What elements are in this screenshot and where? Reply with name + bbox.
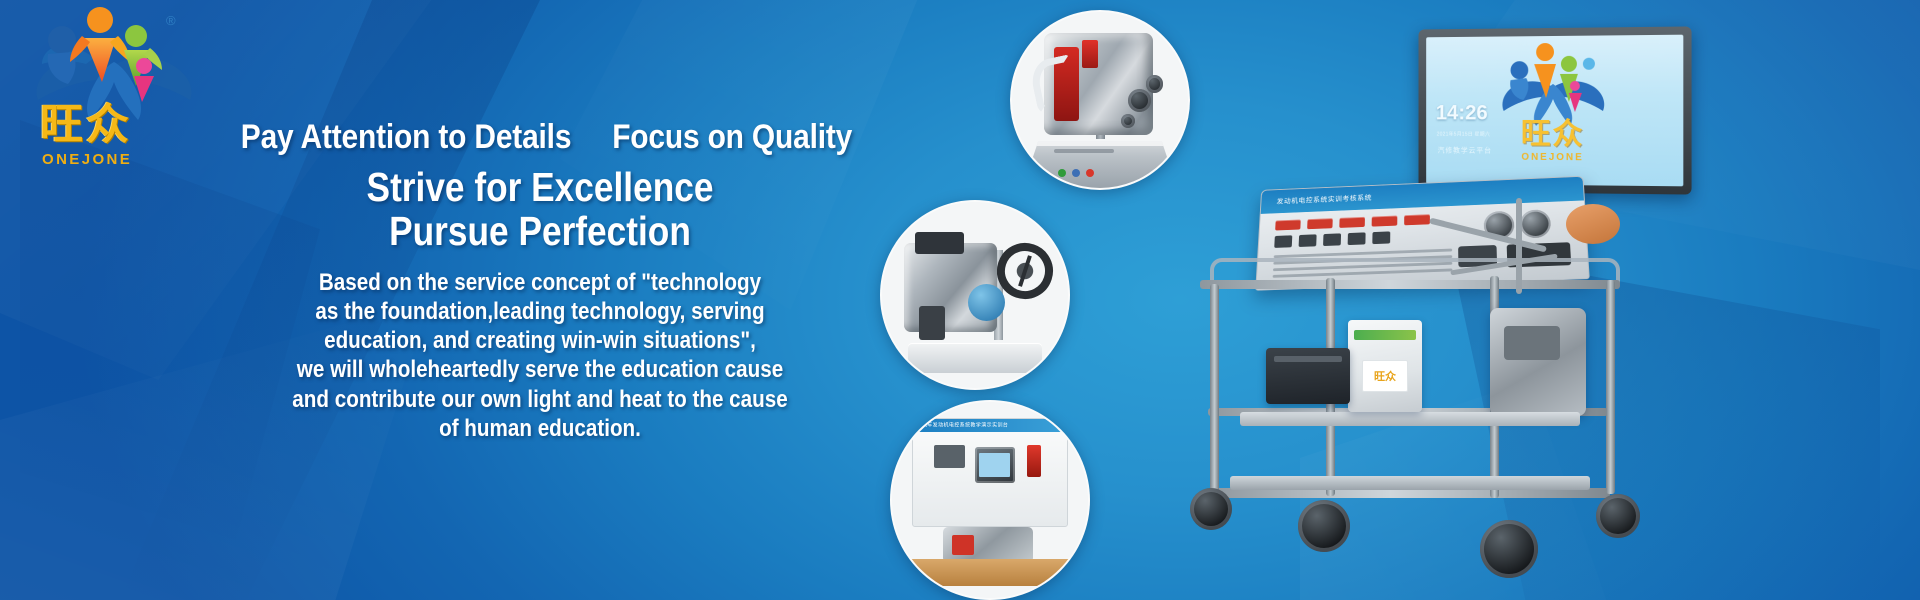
air-intake-chamber [968, 284, 1005, 321]
diagnostic-scanner [975, 447, 1015, 484]
engine-accessory [919, 306, 945, 339]
tagline: Pay Attention to Details Focus on Qualit… [241, 118, 839, 157]
console-switch[interactable] [1274, 235, 1292, 248]
board-header-text: 汽车发动机电控系统教学演示实训台 [922, 422, 1008, 429]
screen-onejone-logo-icon [1493, 41, 1612, 126]
cart-mid-shelf [1240, 412, 1580, 426]
product-photo-engine-steering [880, 200, 1070, 390]
hose [1516, 198, 1522, 294]
console-button[interactable] [1307, 218, 1333, 229]
lcd-touch-display[interactable]: 旺众 ONEJONE 14:26 2021年5月15日 星期六 汽修教学云平台 [1419, 26, 1692, 194]
logo-chinese-name: 旺众 [40, 104, 132, 147]
screen-subtitle: 汽修教学云平台 [1438, 146, 1492, 156]
body-paragraph: Based on the service concept of "technol… [248, 268, 833, 444]
photo-2-content [882, 202, 1068, 388]
battery-box [1266, 348, 1350, 404]
cart-caster-wheel-3 [1480, 520, 1538, 578]
screen-clock: 14:26 [1436, 103, 1488, 124]
console-switch[interactable] [1299, 234, 1317, 247]
pump-housing [1566, 204, 1620, 244]
promotional-banner: ® 旺众 ONEJONE Pay Attention to Details Fo… [0, 0, 1920, 600]
screen-logo-english: ONEJONE [1521, 152, 1583, 163]
body-line-5: and contribute our own light and heat to… [248, 385, 833, 414]
cart-leg-1 [1210, 284, 1219, 494]
console-switch-row[interactable] [1274, 231, 1390, 248]
body-line-1: Based on the service concept of "technol… [248, 268, 833, 297]
body-line-2: as the foundation,leading technology, se… [248, 297, 833, 326]
logo-english-name: ONEJONE [42, 152, 132, 167]
console-button[interactable] [1339, 217, 1365, 228]
body-line-6: of human education. [248, 414, 833, 443]
registered-trademark-icon: ® [166, 14, 176, 27]
automotive-engine-training-cart: 旺众 ONEJONE 14:26 2021年5月15日 星期六 汽修教学云平台 … [1090, 8, 1920, 600]
product-photo-trainer-board: 汽车发动机电控系统教学演示实训台 [890, 400, 1090, 600]
indicator-light-green [1058, 169, 1066, 177]
hose [1450, 254, 1557, 276]
board-component-red [1027, 445, 1041, 477]
hose [1429, 218, 1547, 253]
cart-lower-shelf [1230, 476, 1590, 490]
marketing-copy: Pay Attention to Details Focus on Qualit… [200, 118, 880, 443]
screen-logo-chinese: 旺众 [1521, 120, 1585, 150]
screen-date: 2021年5月15日 星期六 [1437, 131, 1490, 138]
body-line-3: education, and creating win-win situatio… [248, 326, 833, 355]
cart-caster-wheel-4 [1596, 494, 1640, 538]
base-indicator-lights [1058, 169, 1094, 177]
brand-logo: ® 旺众 ONEJONE [18, 4, 208, 174]
headline-line-1: Strive for Excellence [248, 165, 833, 209]
board-component-black [934, 445, 965, 469]
tank-brand-label: 旺众 [1362, 360, 1408, 392]
console-header-text: 发动机电控系统实训考核系统 [1276, 193, 1372, 206]
coolant-reservoir-tank: 旺众 [1348, 320, 1422, 412]
console-button-row[interactable] [1275, 214, 1430, 230]
cart-caster-wheel-2 [1298, 500, 1350, 552]
cart-leg-4 [1606, 280, 1615, 494]
body-line-4: we will wholeheartedly serve the educati… [248, 355, 833, 384]
tank-green-band [1354, 330, 1416, 340]
console-switch[interactable] [1323, 233, 1341, 246]
hose-bundle [1420, 192, 1570, 322]
console-button[interactable] [1372, 216, 1398, 227]
equipment-tray [908, 343, 1042, 373]
photo-3-content: 汽车发动机电控系统教学演示实训台 [892, 402, 1088, 598]
engine-cover [915, 232, 963, 254]
wooden-worktop [908, 559, 1073, 586]
tagline-part-1: Pay Attention to Details [241, 118, 571, 156]
trainer-board-panel: 汽车发动机电控系统教学演示实训台 [912, 418, 1069, 528]
board-header-banner: 汽车发动机电控系统教学演示实训台 [913, 419, 1068, 432]
headline-line-2: Pursue Perfection [248, 209, 833, 253]
engine-model [943, 527, 1033, 562]
cart-caster-wheel-1 [1190, 488, 1232, 530]
display-screen[interactable]: 旺众 ONEJONE 14:26 2021年5月15日 星期六 汽修教学云平台 [1426, 35, 1683, 187]
console-button[interactable] [1275, 219, 1301, 230]
console-switch[interactable] [1348, 232, 1366, 245]
engine-assembly [1490, 308, 1586, 416]
indicator-light-blue [1072, 169, 1080, 177]
console-switch[interactable] [1372, 231, 1390, 244]
tagline-part-2: Focus on Quality [612, 118, 852, 156]
